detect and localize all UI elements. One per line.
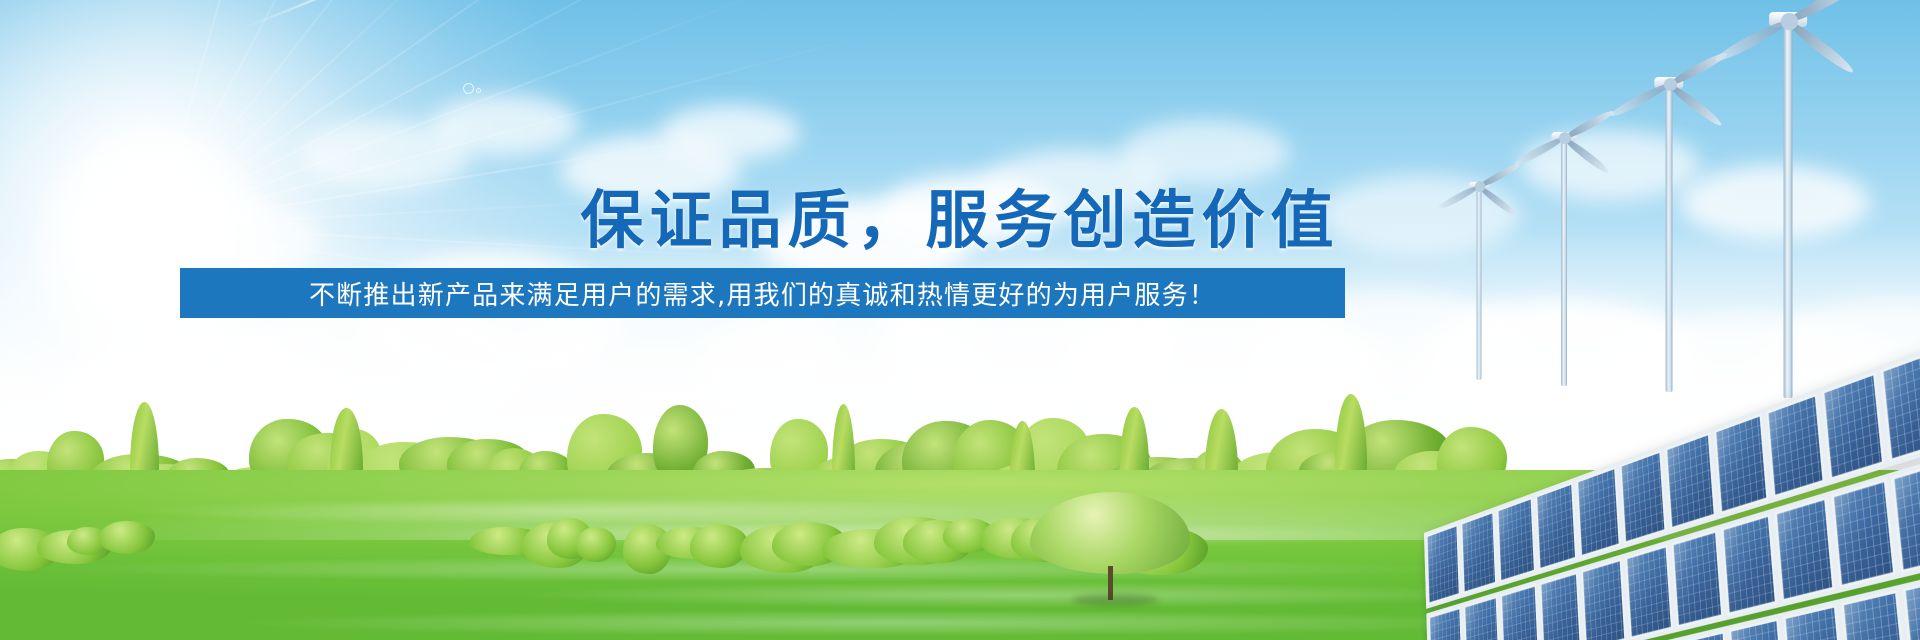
solar-panel [1774, 497, 1834, 602]
shrub-icon [576, 527, 617, 562]
solar-panel [1841, 590, 1907, 640]
tree-shadow [1072, 594, 1158, 606]
solar-panel [1625, 545, 1673, 639]
solar-panel [1783, 604, 1844, 640]
subtitle-bar: 不断推出新产品来满足用户的需求,用我们的真诚和热情更好的为用户服务！ [180, 268, 1345, 318]
solar-panel [1714, 413, 1768, 514]
page-title: 保证品质，服务创造价值 [0, 170, 1920, 261]
solar-panel [1501, 584, 1540, 640]
solar-panel-array [1160, 310, 1920, 640]
solar-panel [1822, 372, 1885, 481]
solar-panel [1540, 572, 1582, 640]
solar-panel [1903, 574, 1920, 640]
solar-panel [1831, 479, 1896, 588]
solar-panel [1619, 450, 1666, 545]
subtitle-text: 不断推出新产品来满足用户的需求,用我们的真诚和热情更好的为用户服务！ [309, 275, 1216, 312]
turbine-blade [1609, 81, 1671, 120]
solar-panel [1881, 349, 1920, 462]
solar-panel [1678, 630, 1731, 640]
turbine-blade [1513, 134, 1566, 167]
solar-panel-grid [1424, 343, 1920, 640]
solar-panel [1497, 497, 1536, 583]
panel-glare-icon [1232, 360, 1298, 426]
hero-banner: 保证品质，服务创造价值 不断推出新产品来满足用户的需求,用我们的真诚和热情更好的… [0, 0, 1920, 640]
solar-panel [1892, 460, 1920, 573]
solar-panel [1729, 618, 1786, 640]
solar-panel [1665, 432, 1716, 530]
solar-panel [1672, 530, 1724, 628]
turbine-blade [1713, 17, 1791, 65]
solar-panel [1766, 393, 1825, 498]
turbine-hub [1781, 13, 1798, 30]
solar-panel [1581, 559, 1626, 640]
solar-panel [1426, 524, 1460, 605]
solar-panel [1536, 482, 1577, 571]
solar-panel [1461, 511, 1497, 594]
solar-panel [1721, 514, 1777, 615]
solar-panel [1576, 467, 1620, 559]
solar-panel [1464, 596, 1501, 640]
solar-panel [1429, 607, 1463, 640]
shrub-icon [99, 521, 155, 553]
